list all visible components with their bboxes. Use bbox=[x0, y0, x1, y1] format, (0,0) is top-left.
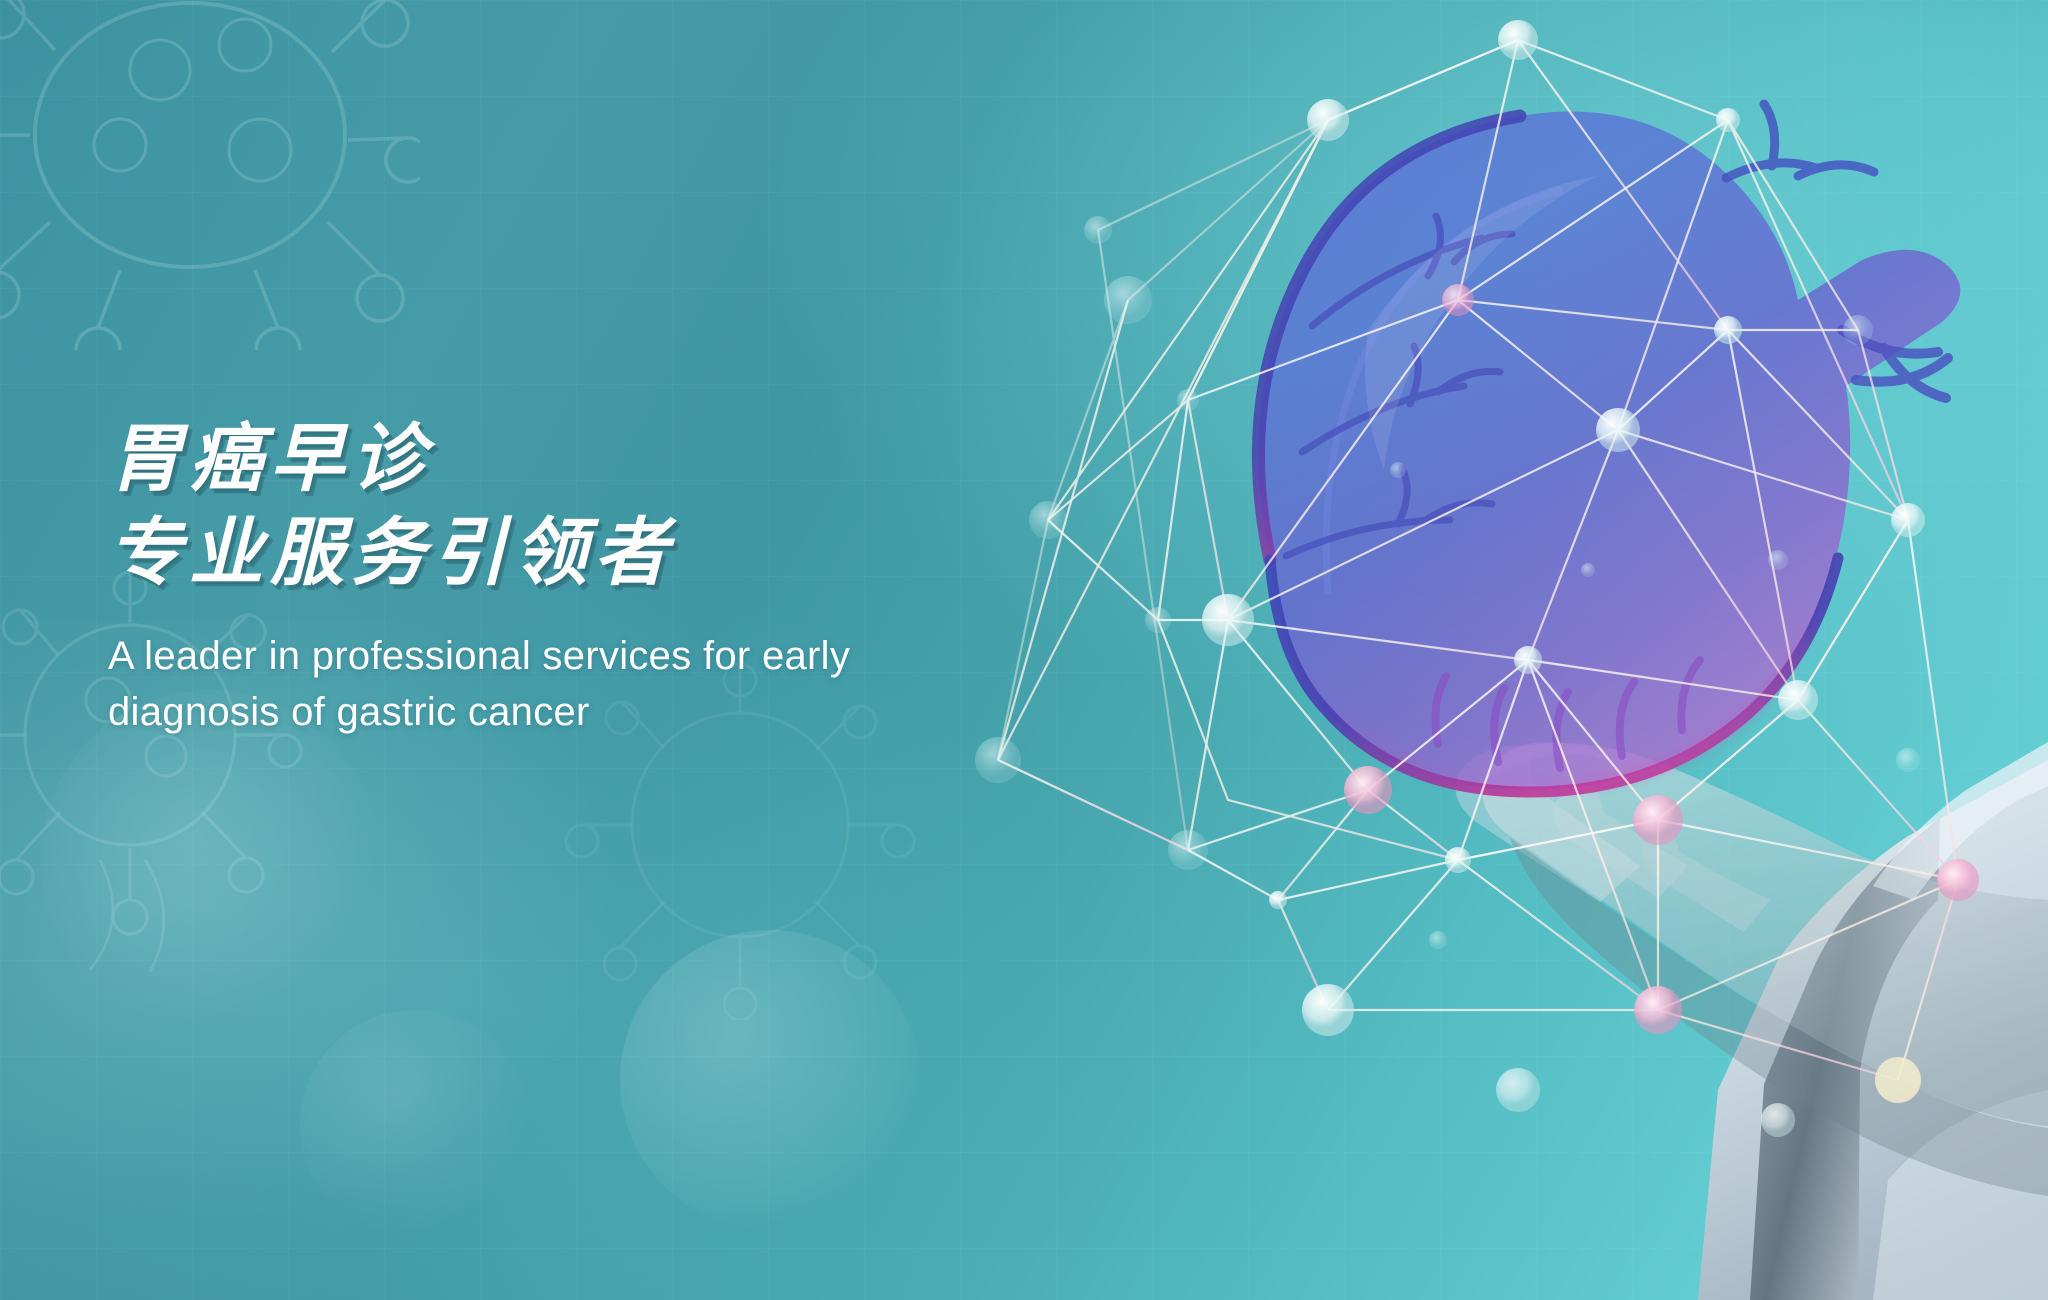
stomach-illustration bbox=[1258, 104, 1960, 792]
subheadline-english-line-2: diagnosis of gastric cancer bbox=[108, 690, 590, 734]
headline-chinese-line-2: 专业服务引领者 bbox=[108, 512, 1108, 594]
headline-chinese-line-1: 胃癌早诊 bbox=[108, 418, 1108, 500]
open-hand bbox=[1456, 742, 2048, 1196]
background-blob bbox=[40, 690, 380, 1030]
headline-block: 胃癌早诊 专业服务引领者 A leader in professional se… bbox=[108, 418, 1108, 740]
subheadline-english: A leader in professional services for ea… bbox=[108, 628, 968, 740]
network-nodes bbox=[975, 20, 1979, 1137]
virus-particle-icon bbox=[0, 0, 420, 350]
subheadline-english-line-1: A leader in professional services for ea… bbox=[108, 634, 850, 678]
lab-coat-sleeve bbox=[1698, 742, 2048, 1300]
banner-root: 胃癌早诊 专业服务引领者 A leader in professional se… bbox=[0, 0, 2048, 1300]
background-blob bbox=[300, 1010, 530, 1240]
polygon-network-overlay bbox=[998, 40, 1958, 1080]
background-bokeh-circle bbox=[620, 930, 920, 1230]
